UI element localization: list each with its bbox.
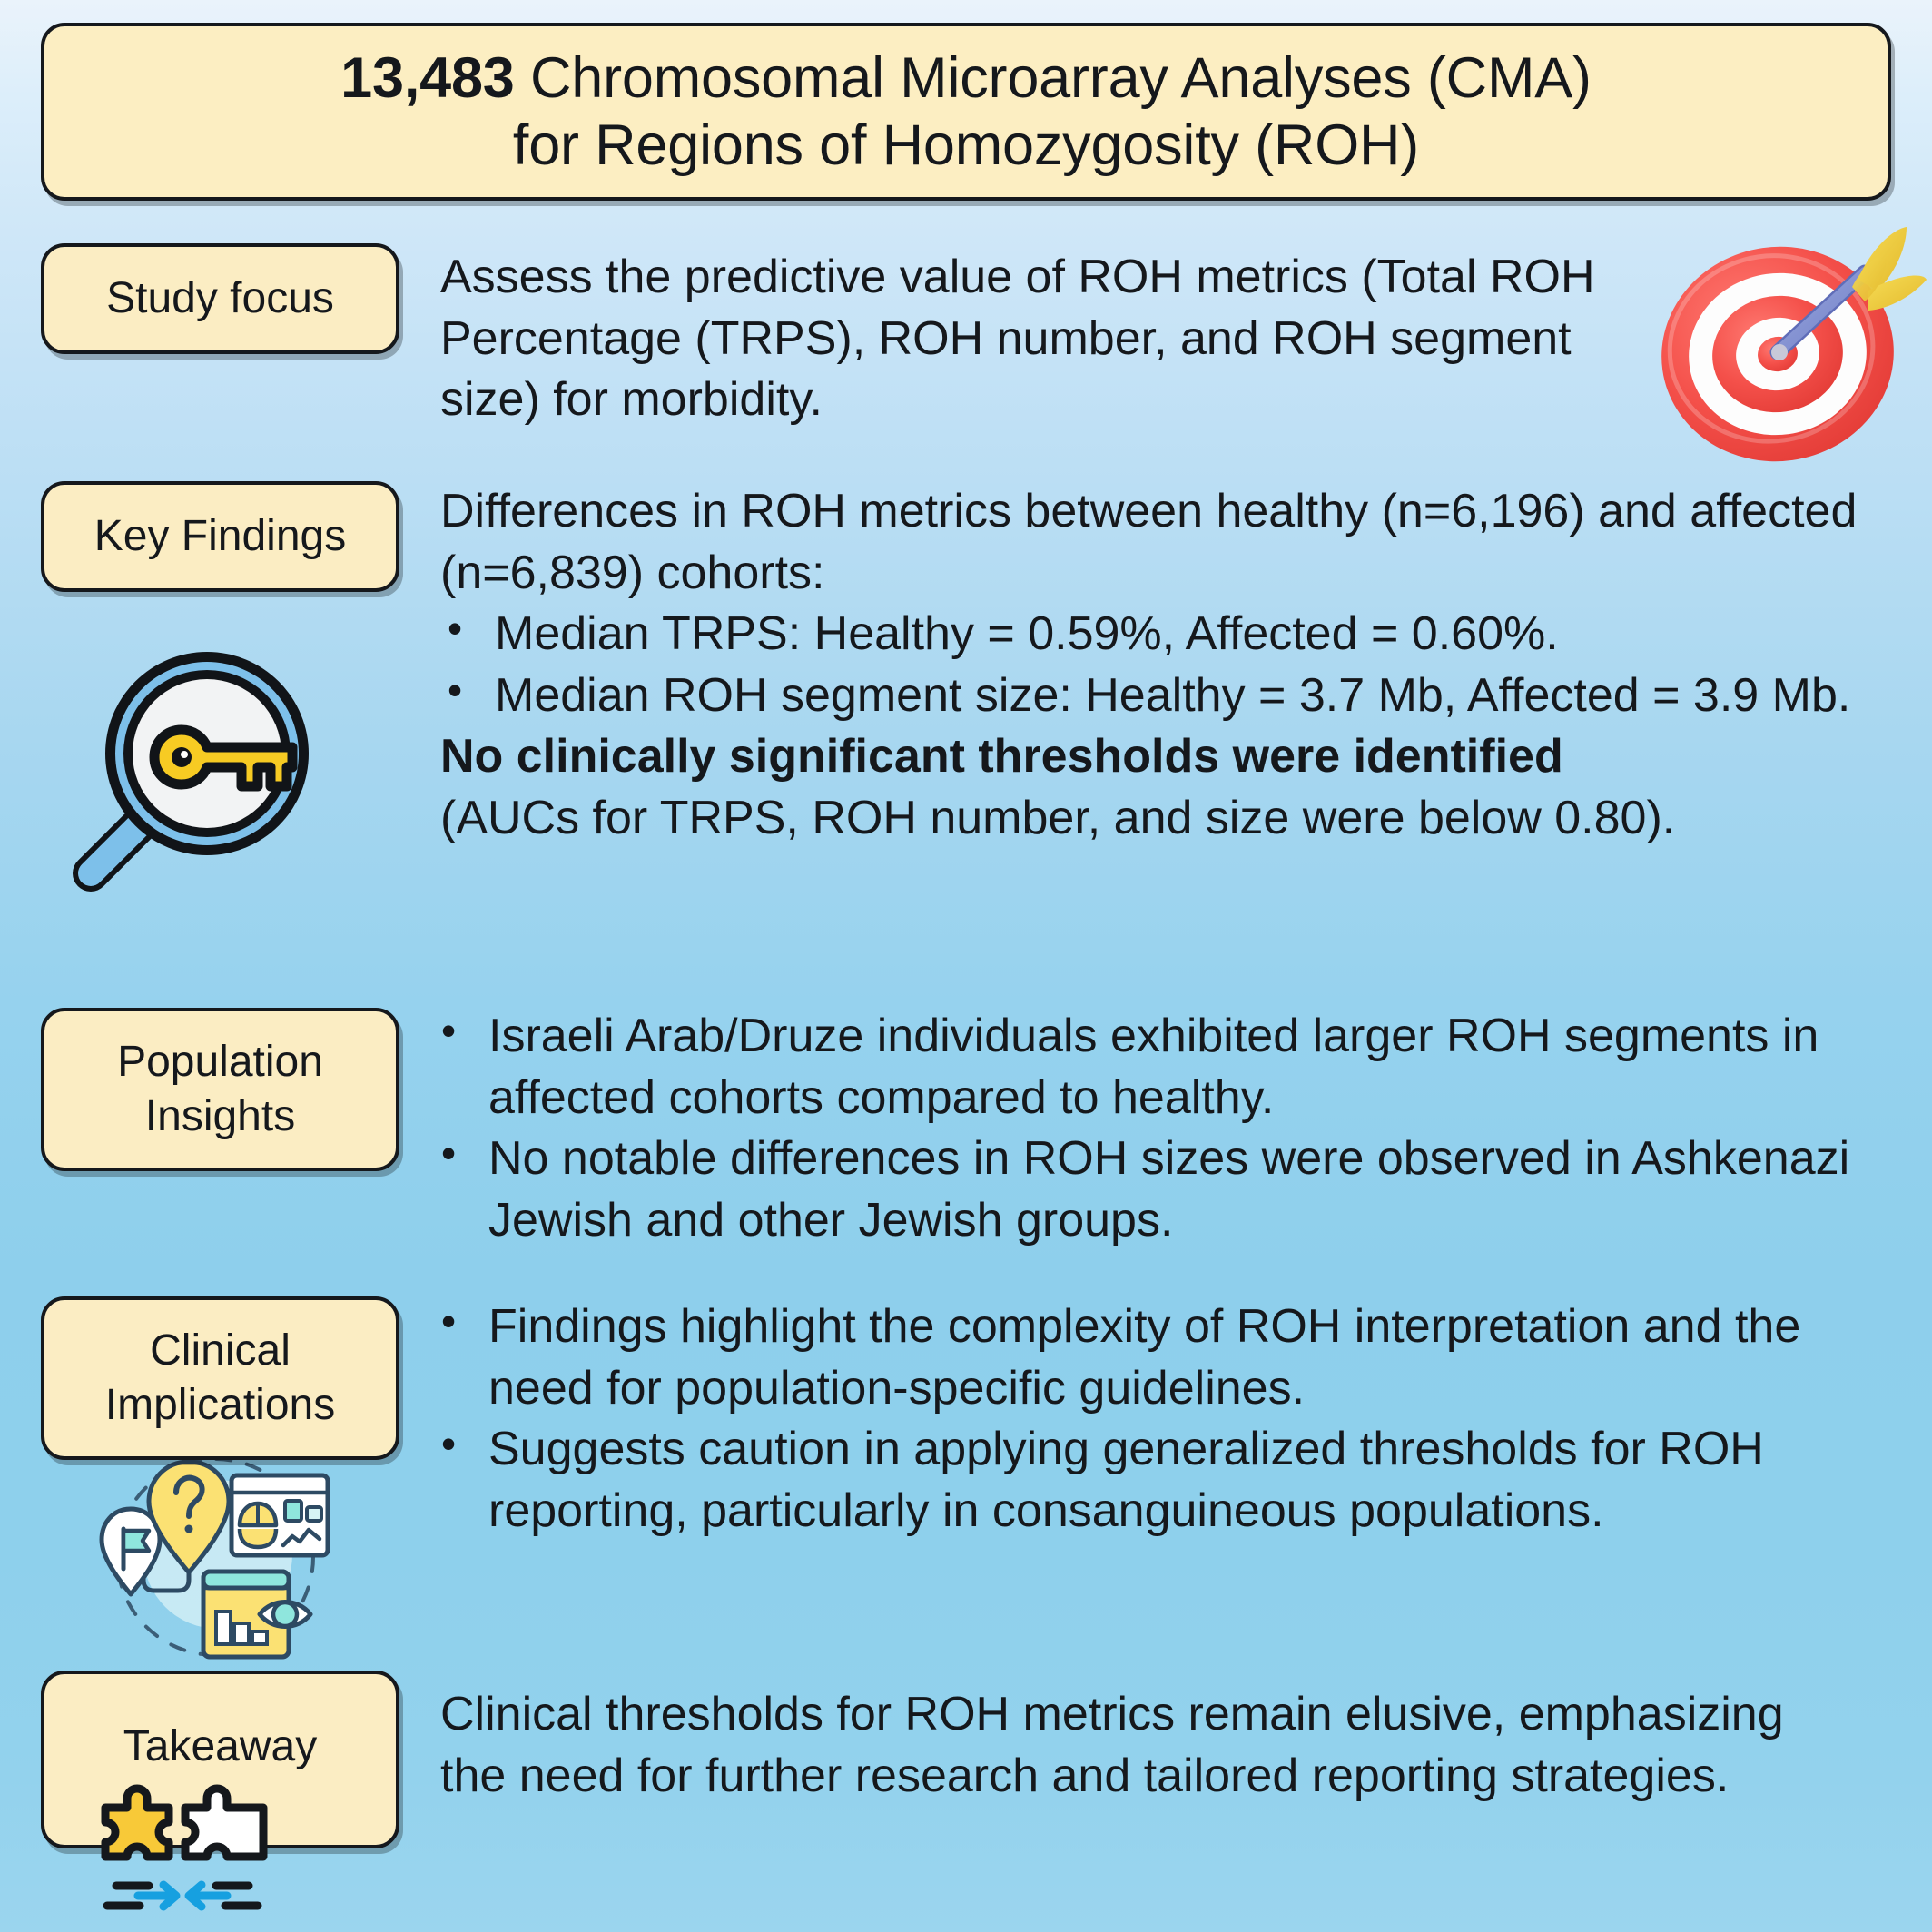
label-line-1: Population bbox=[117, 1038, 323, 1086]
key-findings-intro: Differences in ROH metrics between healt… bbox=[440, 481, 1893, 604]
takeaway-paragraph: Clinical thresholds for ROH metrics rema… bbox=[440, 1684, 1857, 1807]
section-label-population-insights-text: Population Insights bbox=[117, 1035, 323, 1143]
section-body-key-findings: Differences in ROH metrics between healt… bbox=[440, 481, 1893, 850]
section-label-key-findings-text: Key Findings bbox=[94, 509, 346, 564]
list-item: Median TRPS: Healthy = 0.59%, Affected =… bbox=[440, 604, 1893, 665]
list-item: Findings highlight the complexity of ROH… bbox=[434, 1296, 1878, 1419]
section-label-clinical-implications-text: Clinical Implications bbox=[105, 1324, 335, 1432]
graphical-abstract: 13,483 Chromosomal Microarray Analyses (… bbox=[0, 0, 1932, 1932]
clinical-insight-illustration bbox=[91, 1453, 340, 1666]
magnifier-key-icon bbox=[56, 636, 329, 908]
section-body-clinical-implications: Findings highlight the complexity of ROH… bbox=[434, 1296, 1878, 1542]
puzzle-pieces-icon bbox=[98, 1766, 289, 1925]
dartboard-icon bbox=[1634, 216, 1925, 470]
list-item: Median ROH segment size: Healthy = 3.7 M… bbox=[440, 665, 1893, 727]
section-body-takeaway: Clinical thresholds for ROH metrics rema… bbox=[440, 1684, 1857, 1807]
section-label-key-findings: Key Findings bbox=[41, 481, 399, 592]
section-label-population-insights: Population Insights bbox=[41, 1008, 399, 1171]
study-focus-paragraph: Assess the predictive value of ROH metri… bbox=[440, 247, 1639, 431]
label-line-2: Insights bbox=[145, 1092, 295, 1140]
label-line-1: Clinical bbox=[150, 1326, 291, 1375]
label-line-2: Implications bbox=[105, 1381, 335, 1429]
list-item: No notable differences in ROH sizes were… bbox=[434, 1129, 1868, 1251]
section-label-study-focus: Study focus bbox=[41, 243, 399, 354]
title-line2: for Regions of Homozygosity (ROH) bbox=[513, 113, 1419, 177]
key-findings-closing: (AUCs for TRPS, ROH number, and size wer… bbox=[440, 788, 1893, 850]
population-insights-bullet-list: Israeli Arab/Druze individuals exhibited… bbox=[434, 1006, 1868, 1251]
section-label-study-focus-text: Study focus bbox=[106, 271, 334, 326]
key-findings-bullet-list: Median TRPS: Healthy = 0.59%, Affected =… bbox=[440, 604, 1893, 726]
key-findings-bold-statement: No clinically significant thresholds wer… bbox=[440, 726, 1893, 788]
clinical-implications-bullet-list: Findings highlight the complexity of ROH… bbox=[434, 1296, 1878, 1542]
title-line1-rest: Chromosomal Microarray Analyses (CMA) bbox=[515, 46, 1592, 110]
page-title-text: 13,483 Chromosomal Microarray Analyses (… bbox=[340, 44, 1592, 180]
section-body-study-focus: Assess the predictive value of ROH metri… bbox=[440, 247, 1639, 431]
title-sample-count: 13,483 bbox=[340, 46, 515, 110]
list-item: Suggests caution in applying generalized… bbox=[434, 1419, 1878, 1542]
page-title: 13,483 Chromosomal Microarray Analyses (… bbox=[41, 23, 1891, 201]
section-label-clinical-implications: Clinical Implications bbox=[41, 1296, 399, 1460]
section-body-population-insights: Israeli Arab/Druze individuals exhibited… bbox=[434, 1006, 1868, 1251]
list-item: Israeli Arab/Druze individuals exhibited… bbox=[434, 1006, 1868, 1129]
